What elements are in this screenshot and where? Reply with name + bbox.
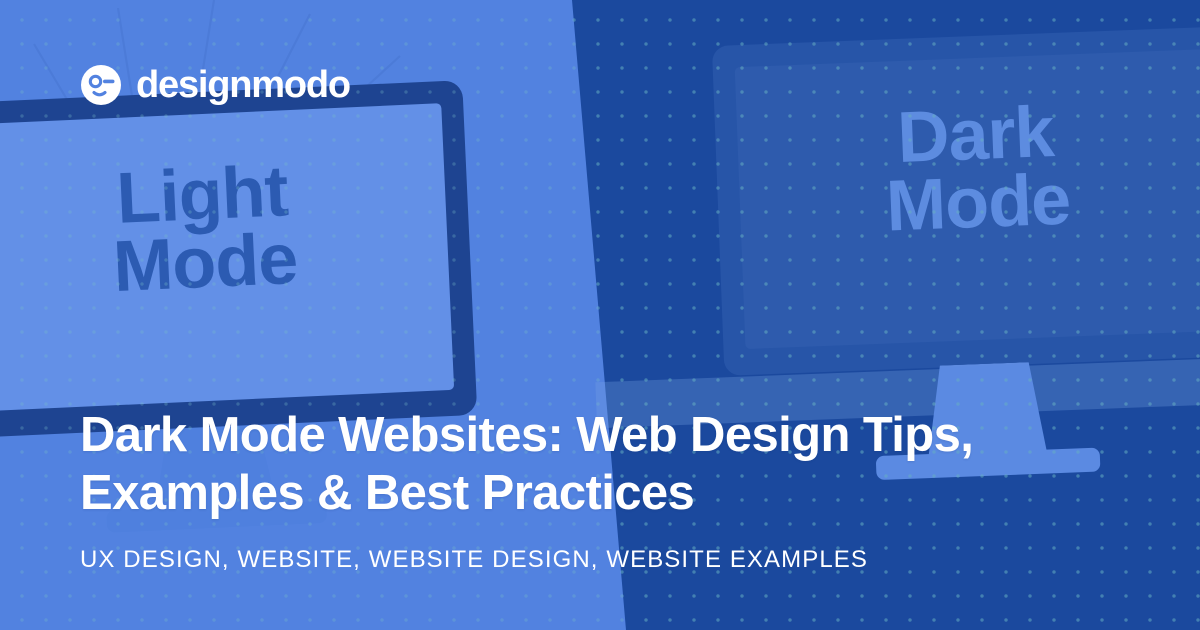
light-mode-monitor: Light Mode xyxy=(0,80,477,439)
monitor-screen: Dark Mode xyxy=(735,49,1200,349)
designmodo-logo[interactable]: designmodo xyxy=(80,64,350,106)
article-text-block: Dark Mode Websites: Web Design Tips, Exa… xyxy=(80,407,1130,572)
designmodo-wordmark: designmodo xyxy=(136,66,350,104)
monitor-screen: Light Mode xyxy=(0,103,454,412)
article-categories: UX DESIGN, WEBSITE, WEBSITE DESIGN, WEBS… xyxy=(80,548,1130,572)
light-mode-screen-label: Light Mode xyxy=(0,151,449,308)
dark-mode-monitor: Dark Mode xyxy=(712,26,1200,376)
article-title-line2: Examples & Best Practices xyxy=(80,466,694,520)
designmodo-face-icon xyxy=(80,64,122,106)
social-share-card: Light Mode Dark Mode designmodo xyxy=(0,0,1200,630)
dark-mode-screen-label: Dark Mode xyxy=(736,93,1200,247)
article-title-line1: Dark Mode Websites: Web Design Tips, xyxy=(80,408,973,462)
article-title: Dark Mode Websites: Web Design Tips, Exa… xyxy=(80,407,1130,522)
